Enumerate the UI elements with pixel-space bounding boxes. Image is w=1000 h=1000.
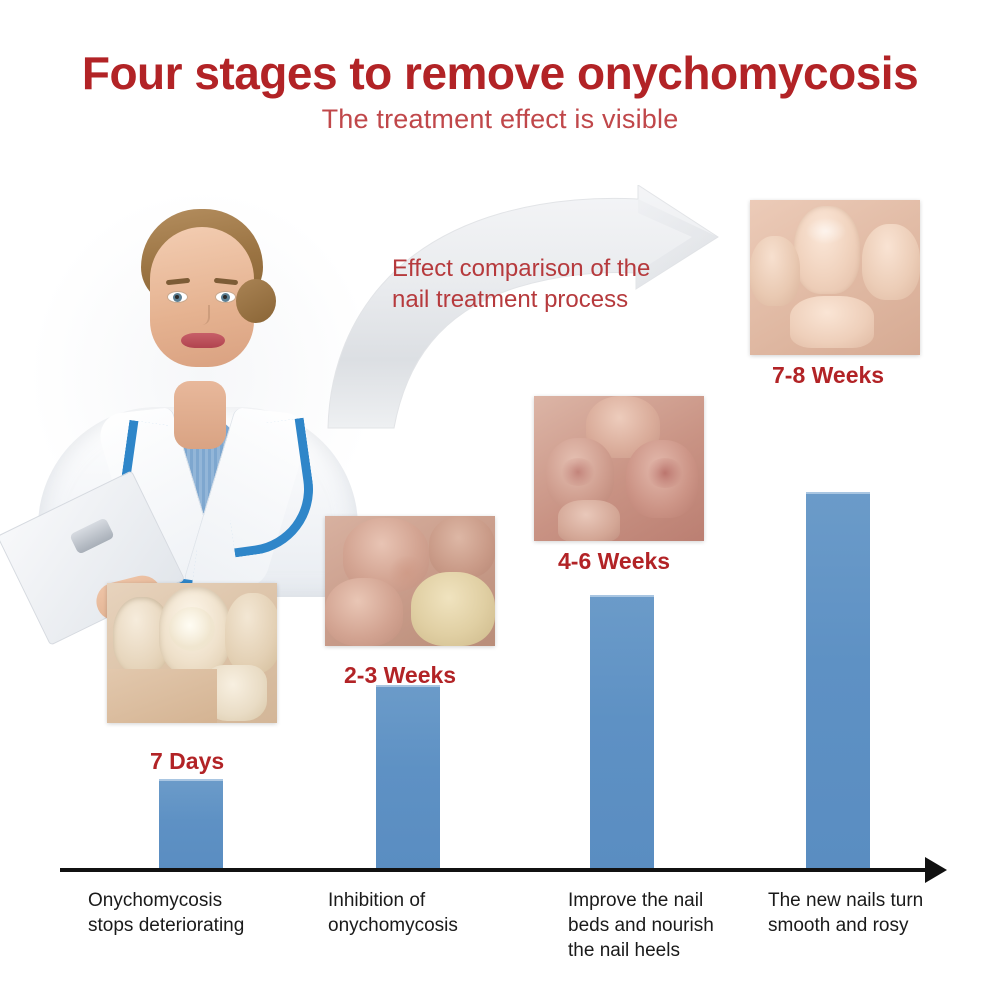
nail-photo-7-8-weeks xyxy=(750,200,920,355)
callout-line-1: Effect comparison of the xyxy=(392,253,692,284)
healthy-nail xyxy=(862,224,920,300)
axis-caption-7-8-weeks: The new nails turn smooth and rosy xyxy=(768,888,968,938)
caption-line: Inhibition of xyxy=(328,888,528,913)
axis-caption-7-days: Onychomycosis stops deteriorating xyxy=(88,888,288,938)
nail xyxy=(558,500,620,541)
stage-label-7-days: 7 Days xyxy=(150,748,224,775)
page-subtitle: The treatment effect is visible xyxy=(0,104,1000,135)
hair-bun xyxy=(236,279,276,323)
caption-line: the nail heels xyxy=(568,938,748,963)
nail-highlight xyxy=(806,218,846,244)
x-axis-arrow-icon xyxy=(925,857,947,883)
arrow-callout-text: Effect comparison of the nail treatment … xyxy=(392,253,692,315)
axis-caption-4-6-weeks: Improve the nail beds and nourish the na… xyxy=(568,888,748,963)
skin-fold xyxy=(387,556,427,590)
lips xyxy=(181,333,225,348)
stage-label-7-8-weeks: 7-8 Weeks xyxy=(772,362,884,389)
nail-photo-4-6-weeks xyxy=(534,396,704,541)
nail xyxy=(429,516,495,578)
nail-debris xyxy=(169,607,215,651)
caption-line: onychomycosis xyxy=(328,913,528,938)
bar-4-6-weeks xyxy=(590,595,654,870)
healthy-nail xyxy=(790,296,874,348)
callout-line-2: nail treatment process xyxy=(392,284,692,315)
caption-line: The new nails turn xyxy=(768,888,968,913)
nail-lesion xyxy=(560,458,596,486)
skin-fold xyxy=(107,669,217,723)
healthy-nail xyxy=(750,236,800,306)
nail-lesion xyxy=(646,458,684,488)
nose xyxy=(197,305,210,325)
bar-7-8-weeks xyxy=(806,492,870,870)
bar-2-3-weeks xyxy=(376,685,440,870)
caption-line: stops deteriorating xyxy=(88,913,288,938)
bar-7-days xyxy=(159,779,223,870)
pupil-left xyxy=(175,295,179,299)
page-title: Four stages to remove onychomycosis xyxy=(0,46,1000,100)
caption-line: smooth and rosy xyxy=(768,913,968,938)
axis-caption-2-3-weeks: Inhibition of onychomycosis xyxy=(328,888,528,938)
nail-photo-2-3-weeks xyxy=(325,516,495,646)
x-axis-line xyxy=(60,868,932,872)
caption-line: beds and nourish xyxy=(568,913,748,938)
caption-line: Onychomycosis xyxy=(88,888,288,913)
infographic-canvas: Four stages to remove onychomycosis The … xyxy=(0,0,1000,1000)
nail xyxy=(325,578,403,646)
pupil-right xyxy=(223,295,227,299)
nail-photo-7-days xyxy=(107,583,277,723)
caption-line: Improve the nail xyxy=(568,888,748,913)
nail xyxy=(225,593,277,673)
stage-label-4-6-weeks: 4-6 Weeks xyxy=(558,548,670,575)
nail-yellowed xyxy=(411,572,495,646)
